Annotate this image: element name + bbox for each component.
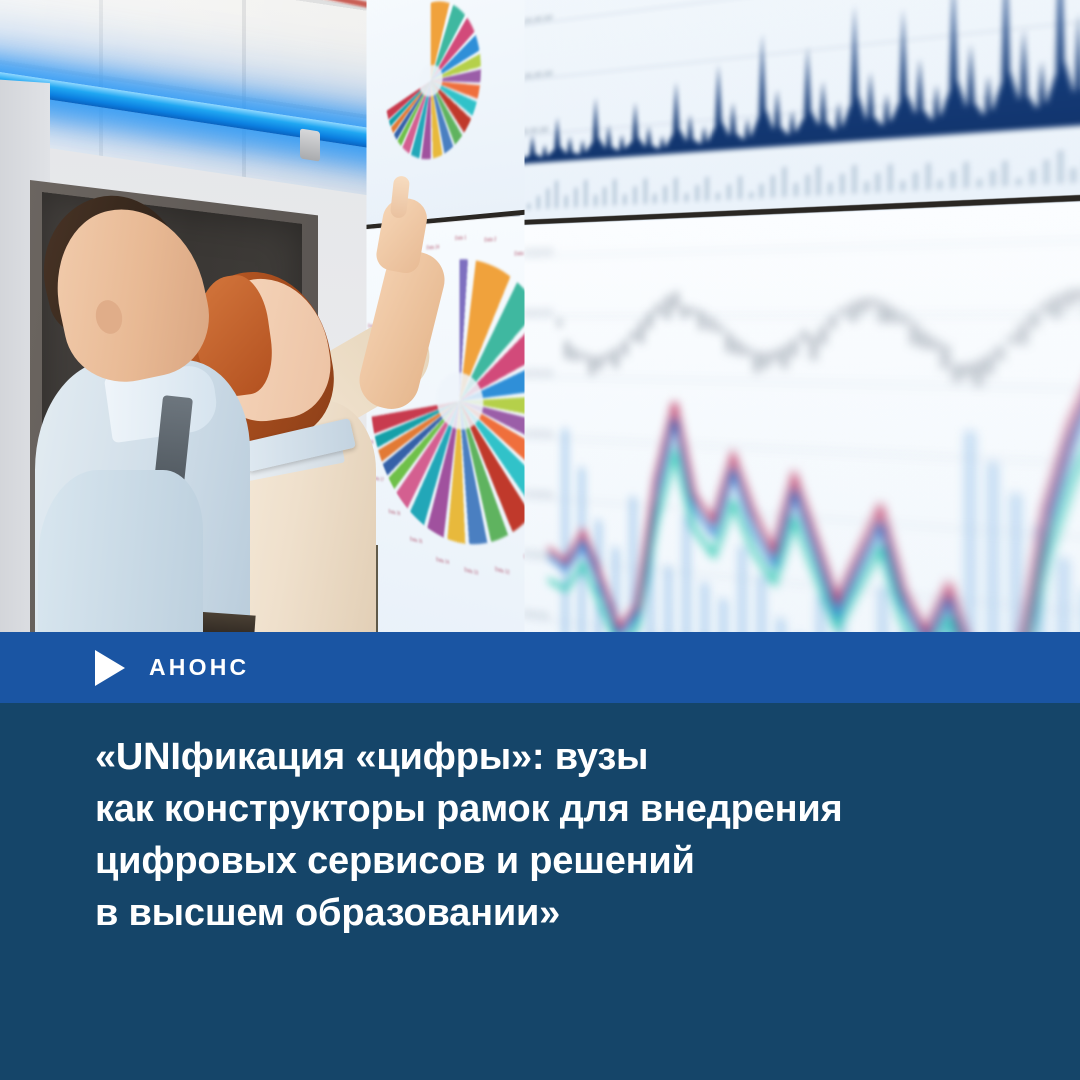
chart-panel-area: 32,00.00 24,00.00 16,00.00 8,00.00	[520, 0, 1080, 220]
title-block: «UNIфикация «цифры»: вузы как конструкто…	[0, 703, 1080, 1080]
multi-series-line-chart	[520, 192, 1080, 632]
play-triangle-icon	[95, 650, 125, 686]
announce-bar: АНОНС	[0, 632, 1080, 703]
video-wall: 32,00.00 24,00.00 16,00.00 8,00.00	[520, 0, 1080, 632]
people-group	[0, 0, 540, 632]
man-arm	[38, 470, 203, 632]
hero-photo: 32,00.00 24,00.00 16,00.00 8,00.00	[0, 0, 1080, 632]
announce-label: АНОНС	[149, 654, 249, 681]
chart-panel-lines: 20,00.00 18,00.00 16,00.00 14,00.00 12,0…	[520, 192, 1080, 632]
announcement-card: 32,00.00 24,00.00 16,00.00 8,00.00	[0, 0, 1080, 1080]
candlestick-overlay	[558, 268, 1080, 407]
page-title: «UNIфикация «цифры»: вузы как конструкто…	[95, 731, 995, 939]
